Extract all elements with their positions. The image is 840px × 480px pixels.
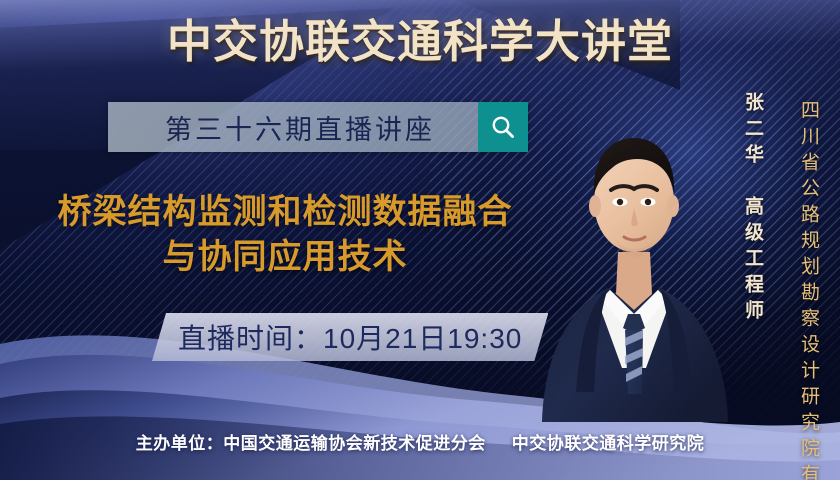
- speaker-organization: 四川省公路规划勘察设计研究院有限公司: [799, 100, 818, 480]
- lecture-topic: 桥梁结构监测和检测数据融合 与协同应用技术: [0, 190, 570, 280]
- session-label: 第三十六期直播讲座: [108, 108, 478, 147]
- lecture-topic-line1: 桥梁结构监测和检测数据融合: [58, 193, 513, 231]
- speaker-name: 张二华 高级工程师: [743, 92, 762, 326]
- broadcast-time-badge: 直播时间：10月21日19:30: [152, 313, 548, 361]
- search-icon[interactable]: [478, 102, 528, 152]
- poster-canvas: 中交协联交通科学大讲堂 第三十六期直播讲座 桥梁结构监测和检测数据融合 与协同应…: [0, 0, 840, 480]
- broadcast-time-text: 直播时间：10月21日19:30: [178, 317, 522, 357]
- lecture-topic-line2: 与协同应用技术: [0, 235, 570, 280]
- organizer-primary: 中国交通运输协会新技术促进分会: [223, 434, 486, 453]
- organizers-line: 主办单位：中国交通运输协会新技术促进分会中交协联交通科学研究院: [0, 429, 840, 454]
- organizer-secondary: 中交协联交通科学研究院: [512, 434, 705, 453]
- organizers-prefix: 主办单位：: [136, 434, 224, 453]
- page-title: 中交协联交通科学大讲堂: [0, 18, 840, 67]
- session-banner: 第三十六期直播讲座: [108, 102, 528, 152]
- speaker-photo: [530, 62, 740, 422]
